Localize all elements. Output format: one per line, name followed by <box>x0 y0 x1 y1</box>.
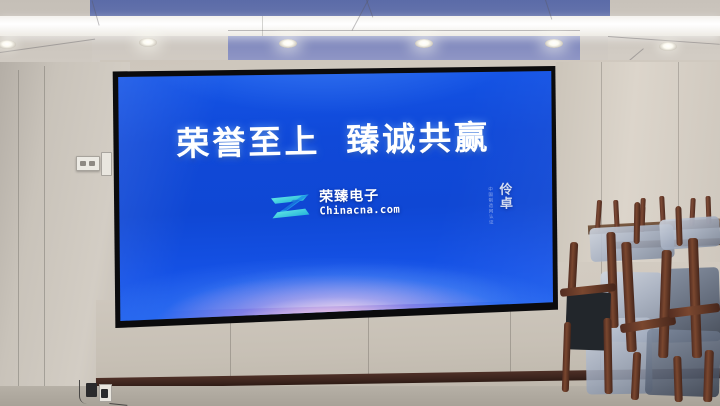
ceiling-spotlight-3 <box>415 39 433 48</box>
ceiling-spotlight-1 <box>139 38 157 47</box>
wall-panel-seam <box>678 62 679 212</box>
chair-leg <box>603 318 612 394</box>
wall-panel-seam <box>44 66 45 406</box>
ceiling-spotlight-2 <box>279 39 297 48</box>
power-plug-right[interactable] <box>101 389 108 398</box>
logo-company-cn: 荣臻电子 <box>319 189 379 204</box>
ceiling-spotlight-5 <box>659 42 677 51</box>
watermark-big-text: 伶卓 <box>494 182 514 210</box>
chair-leg <box>673 356 683 402</box>
display-watermark: 中国制造网认证 伶卓 <box>486 182 514 225</box>
room-scene: 荣誉至上臻诚共赢 <box>0 0 720 406</box>
rongzhen-arrow-logo-icon <box>269 189 312 220</box>
logo-company-en: Chinacna.com <box>319 205 400 217</box>
display-headline: 荣誉至上臻诚共赢 <box>116 109 552 167</box>
chair-back <box>634 202 641 244</box>
headline-left: 荣誉至上 <box>176 121 321 163</box>
ceiling-seam <box>228 30 580 31</box>
power-cable <box>109 391 128 406</box>
watermark-small-text: 中国制造网认证 <box>486 183 493 226</box>
headline-right: 臻诚共赢 <box>346 117 491 159</box>
chair-leg <box>703 350 714 402</box>
led-display-screen[interactable]: 荣誉至上臻诚共赢 <box>116 71 553 321</box>
strip-light-seam <box>262 16 263 36</box>
wall-panel-seam <box>18 70 19 406</box>
power-cable <box>79 380 90 404</box>
wall-data-port[interactable] <box>101 152 112 176</box>
linear-strip-light <box>0 16 720 36</box>
wall-socket-upper-left[interactable] <box>76 156 100 171</box>
ceiling-spotlight-4 <box>545 39 563 48</box>
